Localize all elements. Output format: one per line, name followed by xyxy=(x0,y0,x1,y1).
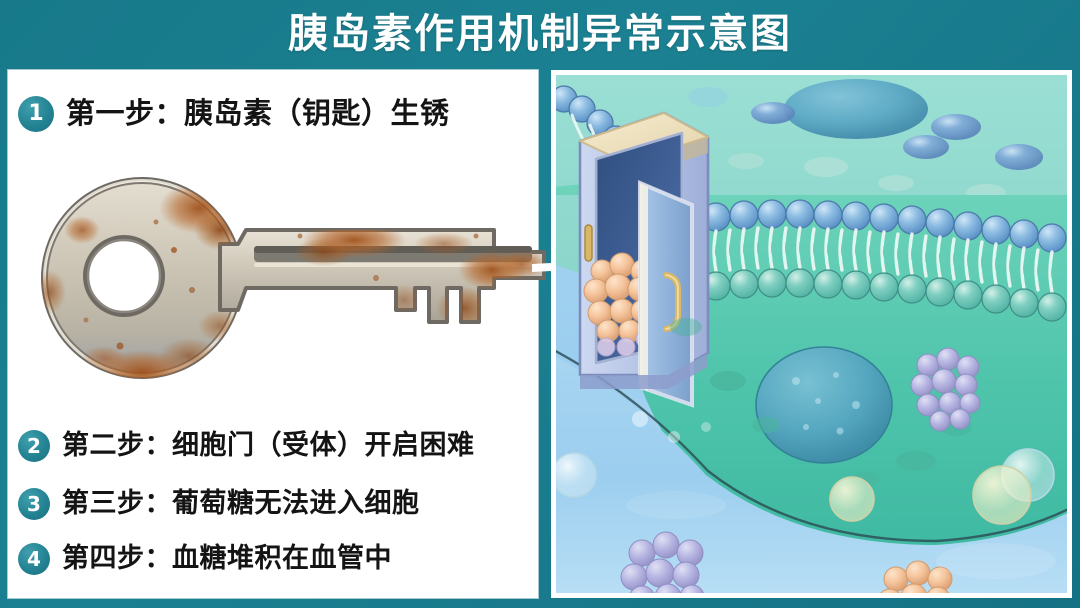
organelle-blob xyxy=(903,135,949,159)
step-badge-1: 1 xyxy=(18,96,54,132)
step-label-2: 第二步：细胞门（受体）开启困难 xyxy=(62,431,475,461)
cell-door-receptor[interactable] xyxy=(580,113,708,405)
infographic-root: 胰岛素作用机制异常示意图 1 第一步：胰岛素（钥匙）生锈 xyxy=(0,0,1080,608)
step-item-1: 1 第一步：胰岛素（钥匙）生锈 xyxy=(18,96,450,132)
bubble xyxy=(830,477,874,521)
organelle-blob xyxy=(728,153,764,169)
bubble xyxy=(668,431,680,443)
organelle-blob xyxy=(710,371,746,391)
organelle-blob xyxy=(896,451,936,471)
title-bar: 胰岛素作用机制异常示意图 xyxy=(0,0,1080,68)
cell-diagram-icon xyxy=(556,75,1067,593)
step-label-1: 第一步：胰岛素（钥匙）生锈 xyxy=(66,98,450,130)
bubble xyxy=(632,411,648,427)
rusty-key-illustration xyxy=(24,160,584,410)
step-badge-3: 3 xyxy=(18,488,50,520)
step-item-3: 3 第三步：葡萄糖无法进入细胞 xyxy=(18,488,420,520)
organelle-blob xyxy=(784,79,928,139)
step-label-3: 第三步：葡萄糖无法进入细胞 xyxy=(62,489,420,519)
step-item-2: 2 第二步：细胞门（受体）开启困难 xyxy=(18,430,475,462)
organelle-blob xyxy=(995,144,1043,170)
organelle-blob xyxy=(878,175,914,191)
step-label-4: 第四步：血糖堆积在血管中 xyxy=(62,544,392,574)
step-badge-2: 2 xyxy=(18,430,50,462)
page-title: 胰岛素作用机制异常示意图 xyxy=(288,14,792,54)
organelle-blob xyxy=(752,417,780,433)
rusty-key-icon xyxy=(24,160,584,410)
organelle-nucleus xyxy=(756,347,892,463)
step-item-4: 4 第四步：血糖堆积在血管中 xyxy=(18,543,392,575)
bubble xyxy=(556,453,596,497)
cell-illustration xyxy=(556,75,1067,593)
organelle-blob xyxy=(751,102,795,124)
bubble xyxy=(973,466,1031,524)
right-panel xyxy=(551,70,1072,598)
organelle-blob xyxy=(931,114,981,140)
organelle-blob xyxy=(670,318,702,336)
bubble xyxy=(701,422,711,432)
organelle-blob xyxy=(804,157,848,177)
step-badge-4: 4 xyxy=(18,543,50,575)
organelle-blob xyxy=(688,87,728,107)
